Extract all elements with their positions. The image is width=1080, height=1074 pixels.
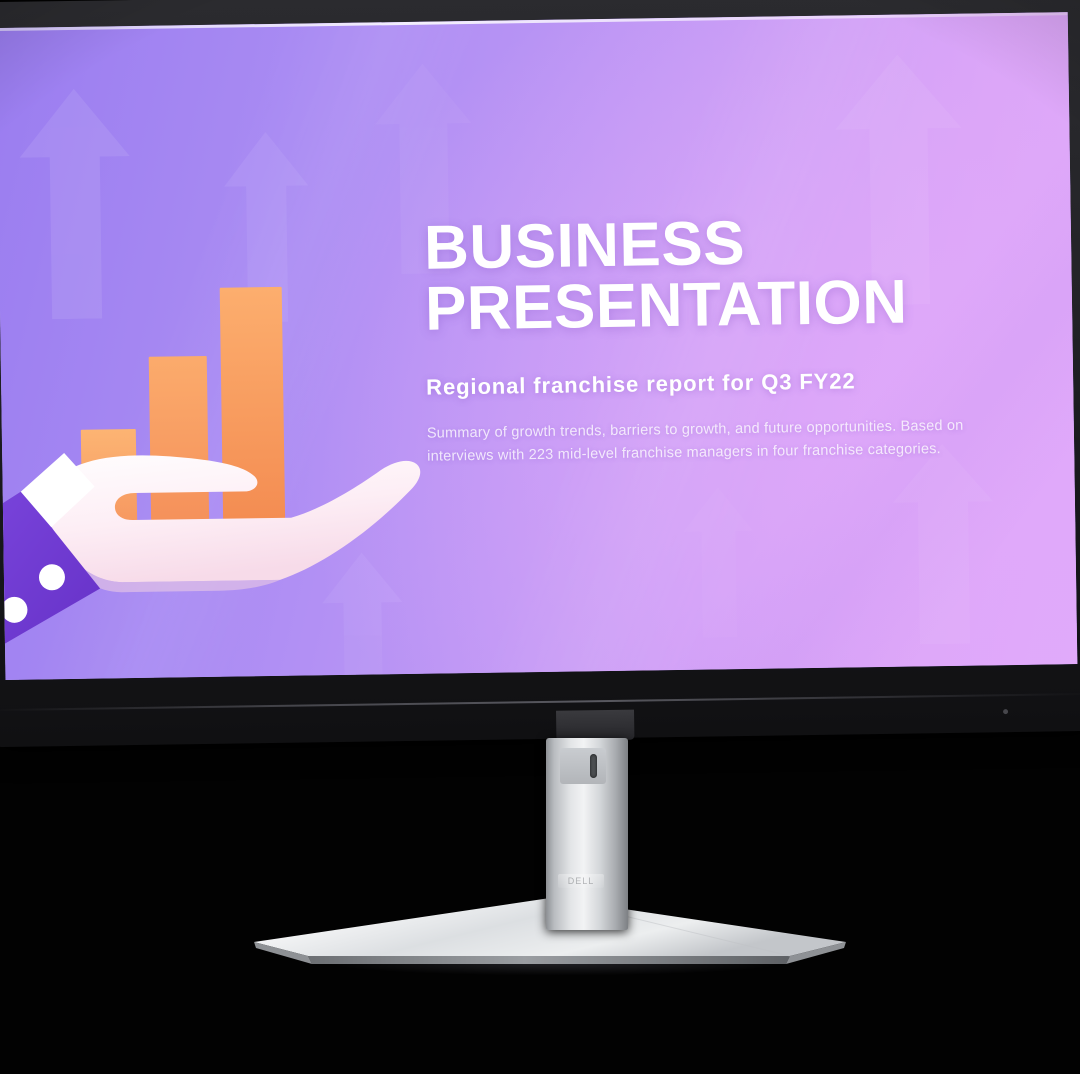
brand-logo: DELL [558,874,604,888]
page-title: BUSINESSPRESENTATION [424,209,1026,341]
power-led-icon [1003,709,1008,714]
cable-management-slot [560,748,606,784]
monitor-stand-neck: DELL [546,738,628,930]
slide-text-block: BUSINESSPRESENTATION Regional franchise … [424,209,1028,470]
monitor-screen[interactable]: BUSINESSPRESENTATION Regional franchise … [0,12,1077,680]
computer-monitor: BUSINESSPRESENTATION Regional franchise … [0,0,1080,747]
slide-subtitle: Regional franchise report for Q3 FY22 [426,366,1026,401]
slide-title-line-2: PRESENTATION [425,268,908,344]
screenshot-root: BUSINESSPRESENTATION Regional franchise … [0,0,1080,1074]
hand-holding-bar-chart-illustration [0,272,435,678]
slide-body-text: Summary of growth trends, barriers to gr… [427,414,988,469]
monitor-neck-mount [556,710,634,741]
